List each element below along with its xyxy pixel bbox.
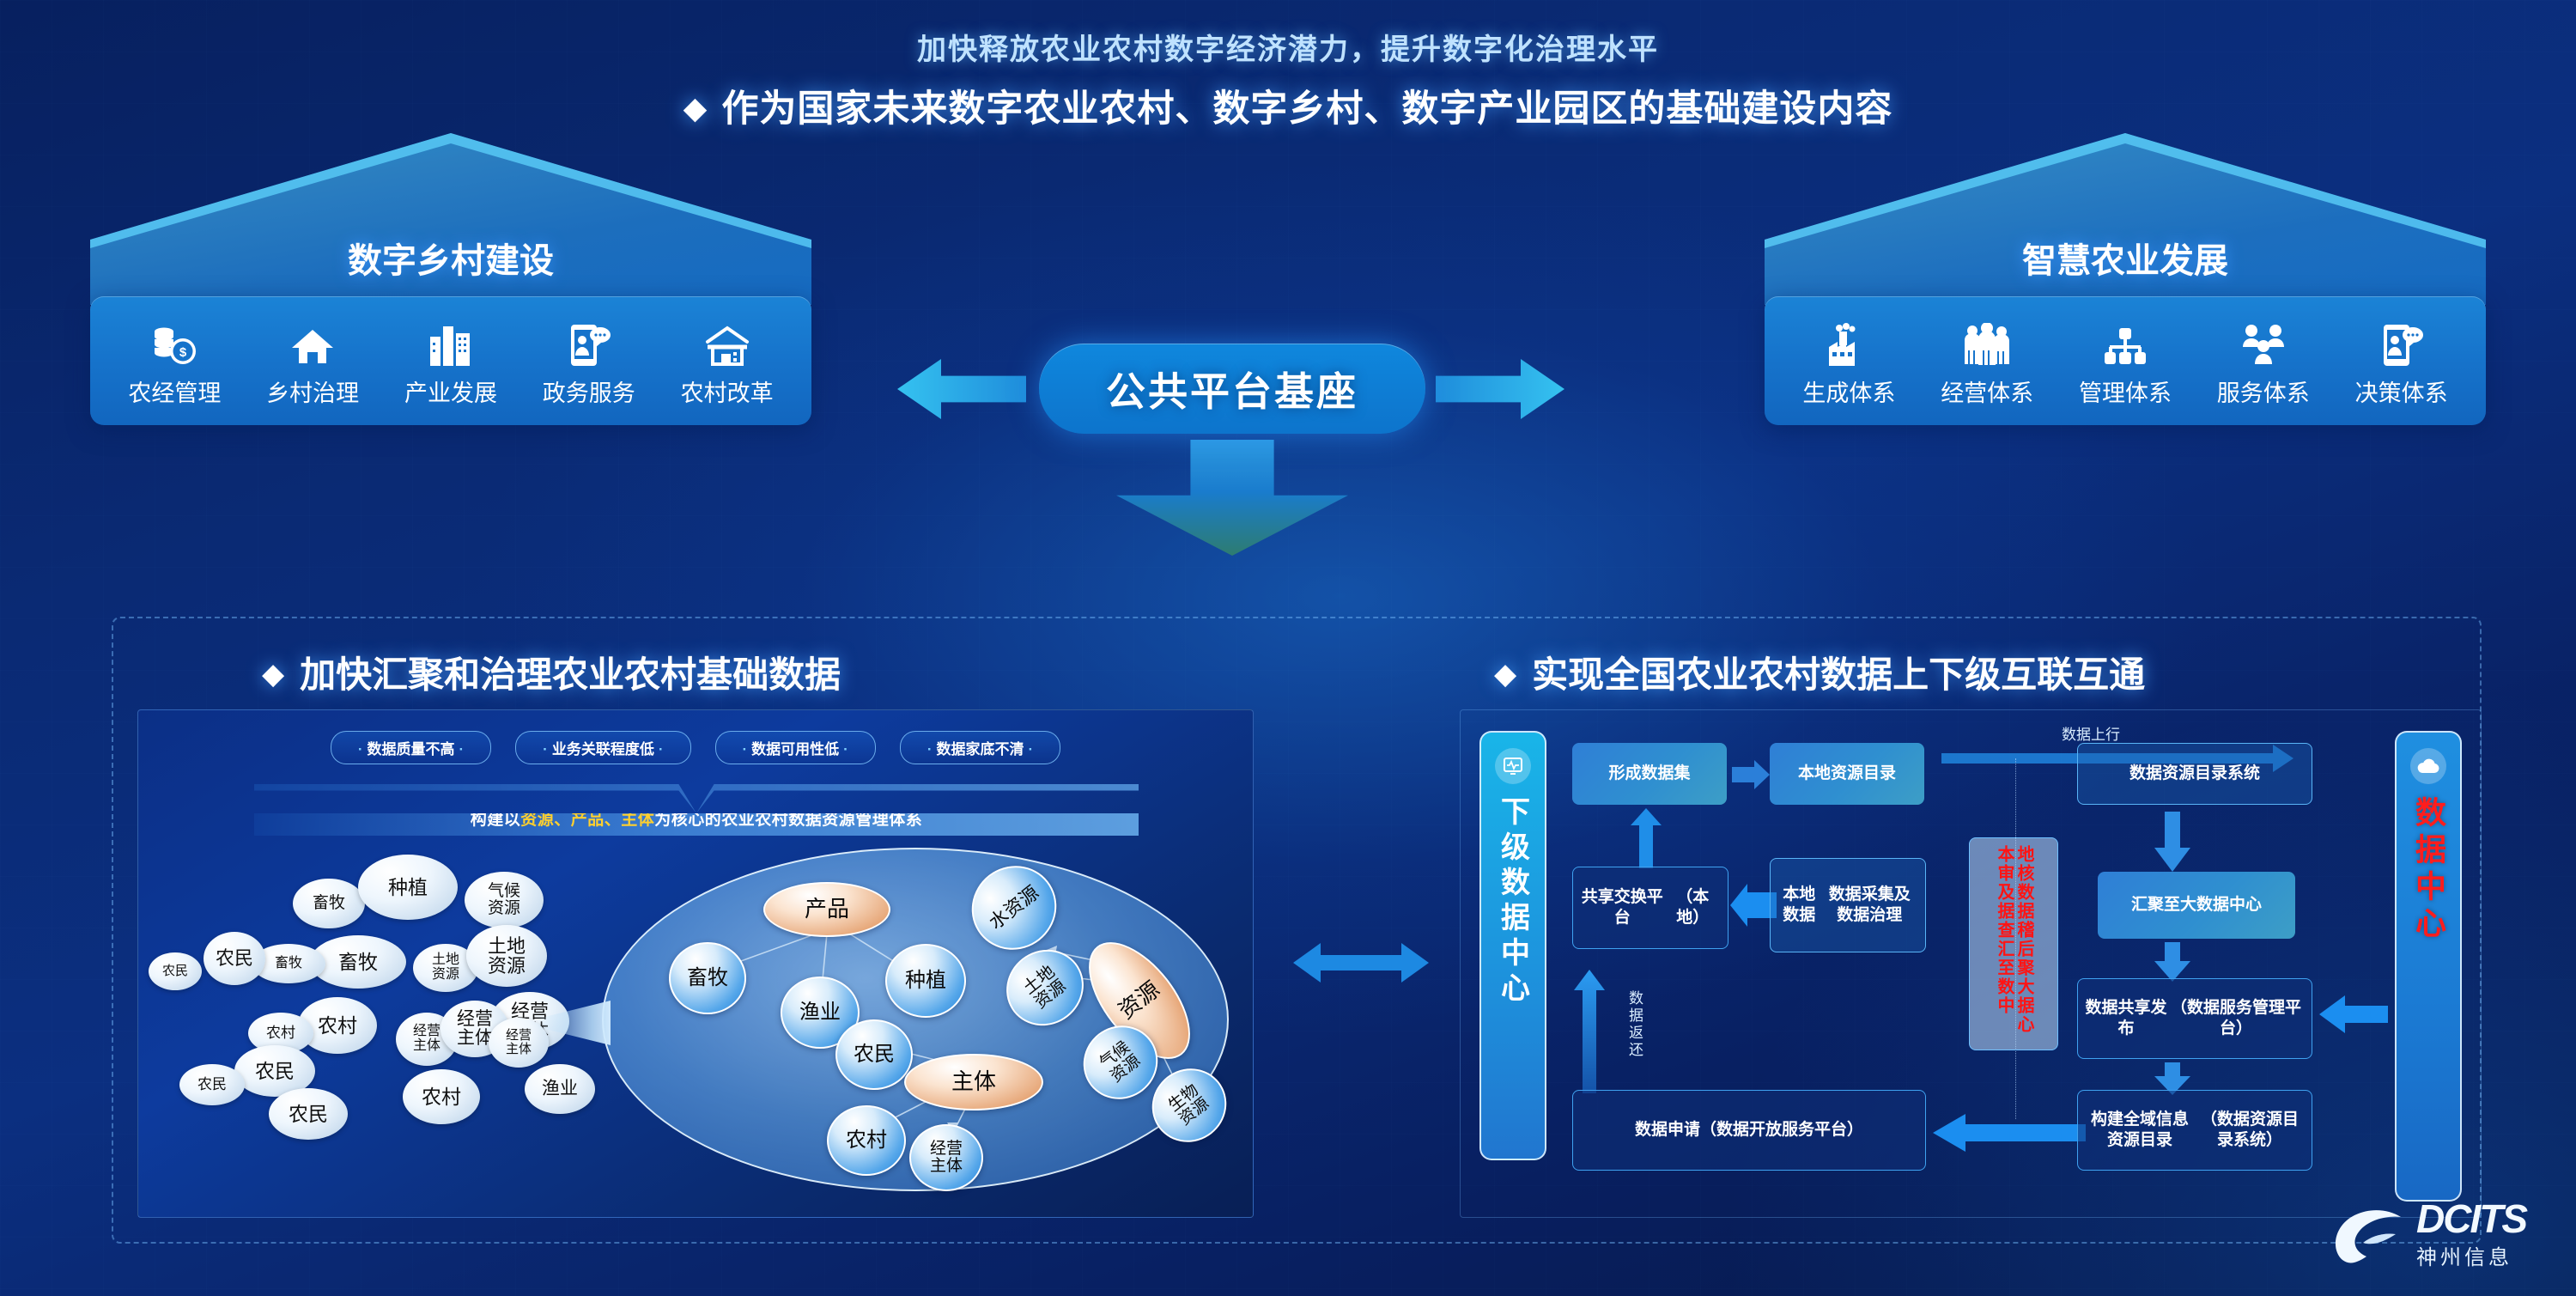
scatter-node: 种植 <box>358 855 458 920</box>
feature-label: 服务体系 <box>2212 374 2315 408</box>
feature-label: 产业发展 <box>399 374 502 408</box>
arrow-left-icon <box>897 359 1026 419</box>
feature-label: 乡村治理 <box>261 374 364 408</box>
scatter-node: 土地资源 <box>466 925 547 987</box>
ellipse-node: 畜牧 <box>669 942 746 1014</box>
cloud-icon <box>2410 748 2446 784</box>
problem-pill: ·业务关联程度低· <box>515 731 690 764</box>
scatter-node: 畜牧 <box>293 879 365 928</box>
digital-village-title: 数字乡村建设 <box>90 233 811 283</box>
arrow-right-icon <box>1436 359 1564 419</box>
feature-label: 管理体系 <box>2074 374 2177 408</box>
company-logo: DCITS 神州信息 <box>2325 1199 2526 1270</box>
logo-cn-text: 神州信息 <box>2416 1240 2526 1270</box>
data-uplink-label: 数据上行 <box>2062 722 2120 744</box>
red-annotation-note: 本审及据查汇至数中 地核数据稽后聚大据心 <box>1969 837 2058 1050</box>
bottom-right-section-title: ◆实现全国农业农村数据上下级互联互通 <box>1494 646 2145 698</box>
flow-box-aggregate-bigdata[interactable]: 汇聚至大数据中心 <box>2098 872 2295 939</box>
diamond-bullet-icon: ◆ <box>1494 658 1516 691</box>
feature-shengcheng-tixi[interactable]: 生成体系 <box>1797 314 1900 408</box>
logo-en-text: DCITS <box>2416 1199 2526 1238</box>
ellipse-node: 经营主体 <box>909 1124 983 1191</box>
section-title-text: 实现全国农业农村数据上下级互联互通 <box>1532 654 2145 695</box>
scatter-node: 农民 <box>204 932 265 985</box>
banner-wings <box>254 784 1139 813</box>
data-center-bar[interactable]: 数据中心 <box>2395 731 2462 1202</box>
factory-icon <box>1797 314 1900 368</box>
service-people-icon <box>2212 314 2315 368</box>
coin-stack-icon: $ <box>123 314 226 368</box>
red-note-col-left: 本审及据查汇至数中 <box>1994 845 2014 1043</box>
core-system-banner: 构建以资源、产品、主体为核心的农业农村数据资源管理体系 <box>254 800 1139 836</box>
flow-box-data-apply[interactable]: 数据申请（数据开放服务平台） <box>1572 1090 1926 1171</box>
logo-mark-icon <box>2325 1203 2408 1270</box>
feature-guanli-tixi[interactable]: 管理体系 <box>2074 314 2177 408</box>
core-ellipse-diagram: 产品水资源畜牧种植土地资源资源渔业农民气候资源主体生物资源农村经营主体 <box>602 848 1229 1191</box>
ellipse-node: 农民 <box>835 1019 913 1090</box>
flow-box-local-resource-dir[interactable]: 本地资源目录 <box>1770 743 1924 805</box>
feature-juece-tixi[interactable]: 决策体系 <box>2350 314 2453 408</box>
org-chart-icon <box>2074 314 2177 368</box>
data-interconnect-card: 下级数据中心 数据中心 形成数据集本 <box>1460 709 2482 1218</box>
feature-xiangcun-zhili[interactable]: 乡村治理 <box>261 314 364 408</box>
banner-prefix: 构建以 <box>471 806 521 830</box>
problem-pill: ·数据家底不清· <box>900 731 1060 764</box>
public-platform-base[interactable]: 公共平台基座 <box>1039 344 1425 434</box>
scatter-node: 渔业 <box>525 1064 595 1114</box>
flow-box-data-share-publish[interactable]: 数据共享发布（数据服务管理平台） <box>2077 978 2312 1059</box>
arrow-down-icon <box>1116 440 1348 556</box>
data-center-label: 数据中心 <box>2406 796 2451 944</box>
subordinate-data-center-label: 下级数据中心 <box>1492 796 1534 1007</box>
arrow-center-to-apply-icon <box>1931 1112 2086 1153</box>
arrow-datacenter-to-publish-icon <box>2318 994 2388 1035</box>
problem-pill: ·数据可用性低· <box>715 731 876 764</box>
scatter-node: 农民 <box>179 1064 245 1105</box>
arrow-share-to-dataset-icon <box>1629 806 1663 868</box>
ellipse-node: 主体 <box>904 1054 1043 1110</box>
digital-village-feature-bar: $ 农经管理 乡村治理 <box>90 296 811 425</box>
page-title: 加快释放农业农村数字经济潜力，提升数字化治理水平 <box>0 26 2576 68</box>
diamond-bullet-icon: ◆ <box>262 658 284 691</box>
ellipse-node: 种植 <box>885 944 966 1018</box>
feature-jingying-tixi[interactable]: 经营体系 <box>1935 314 2038 408</box>
platform-label: 公共平台基座 <box>1106 361 1358 417</box>
feature-fuwu-tixi[interactable]: 服务体系 <box>2212 314 2315 408</box>
flow-box-local-data-gov[interactable]: 本地数据数据采集及数据治理 <box>1770 858 1926 952</box>
section-title-text: 加快汇聚和治理农业农村基础数据 <box>300 654 841 695</box>
data-governance-card: ·数据质量不高··业务关联程度低··数据可用性低··数据家底不清· 构建以资源、… <box>137 709 1254 1218</box>
feature-chanye-fazhan[interactable]: 产业发展 <box>399 314 502 408</box>
smart-agriculture-feature-bar: 生成体系 经营体系 <box>1765 296 2486 425</box>
page-subtitle-text: 作为国家未来数字农业农村、数字乡村、数字产业园区的基础建设内容 <box>721 88 1893 130</box>
subordinate-data-center-bar[interactable]: 下级数据中心 <box>1479 731 1546 1160</box>
scatter-node: 农民 <box>269 1088 348 1140</box>
scatter-node: 农民 <box>149 952 202 990</box>
feature-label: 生成体系 <box>1797 374 1900 408</box>
flow-box-share-exchange[interactable]: 共享交换平台（本地） <box>1572 867 1728 949</box>
arrow-catalog-to-aggregate-icon <box>2153 812 2192 873</box>
problem-pill: ·数据质量不高· <box>331 731 491 764</box>
feature-nongcun-gaige[interactable]: 农村改革 <box>676 314 779 408</box>
buildings-icon <box>399 314 502 368</box>
smart-agriculture-title: 智慧农业发展 <box>1765 233 2486 283</box>
feature-label: 经营体系 <box>1935 374 2038 408</box>
red-note-col-right: 地核数据稽后聚大据心 <box>2014 845 2033 1043</box>
bottom-left-section-title: ◆加快汇聚和治理农业农村基础数据 <box>262 646 841 698</box>
mobile-decision-icon <box>2350 314 2453 368</box>
feature-label: 决策体系 <box>2350 374 2453 408</box>
problem-pill-list: ·数据质量不高··业务关联程度低··数据可用性低··数据家底不清· <box>138 731 1253 764</box>
people-group-icon <box>1935 314 2038 368</box>
scatter-node: 农村 <box>403 1069 480 1124</box>
digital-village-roof: 数字乡村建设 <box>90 133 811 305</box>
ellipse-node: 产品 <box>763 882 890 937</box>
flow-box-global-info-catalog[interactable]: 构建全域信息资源目录（数据资源目录系统） <box>2077 1090 2312 1171</box>
feature-label: 农经管理 <box>123 374 226 408</box>
scatter-node: 气候资源 <box>465 872 544 928</box>
arrow-aggregate-to-publish-icon <box>2153 942 2192 983</box>
flow-box-form-dataset[interactable]: 形成数据集 <box>1572 743 1727 805</box>
flow-box-resource-dir-system[interactable]: 数据资源目录系统 <box>2077 743 2312 805</box>
ellipse-node: 农村 <box>827 1105 906 1176</box>
banner-suffix: 为核心的农业农村数据资源管理体系 <box>654 806 922 830</box>
farmhouse-icon <box>676 314 779 368</box>
data-return-label: 数据返还 <box>1624 990 1645 1059</box>
bidirectional-arrow-icon <box>1288 933 1434 993</box>
arrow-data-return-icon <box>1572 968 1607 1093</box>
smart-agriculture-roof: 智慧农业发展 <box>1765 133 2486 305</box>
feature-label: 农村改革 <box>676 374 779 408</box>
page-subtitle: ◆作为国家未来数字农业农村、数字乡村、数字产业园区的基础建设内容 <box>0 79 2576 132</box>
house-icon <box>261 314 364 368</box>
svg-text:$: $ <box>179 345 187 360</box>
feature-label: 政务服务 <box>538 374 641 408</box>
arrow-dataset-to-catalog-icon <box>1732 758 1773 791</box>
monitor-pulse-icon <box>1495 748 1531 784</box>
diamond-bullet-icon: ◆ <box>683 90 708 125</box>
mobile-service-icon <box>538 314 641 368</box>
banner-highlight: 资源、产品、主体 <box>520 806 654 830</box>
feature-nongjing-guanli[interactable]: $ 农经管理 <box>123 314 226 408</box>
feature-zhengwu-fuwu[interactable]: 政务服务 <box>538 314 641 408</box>
